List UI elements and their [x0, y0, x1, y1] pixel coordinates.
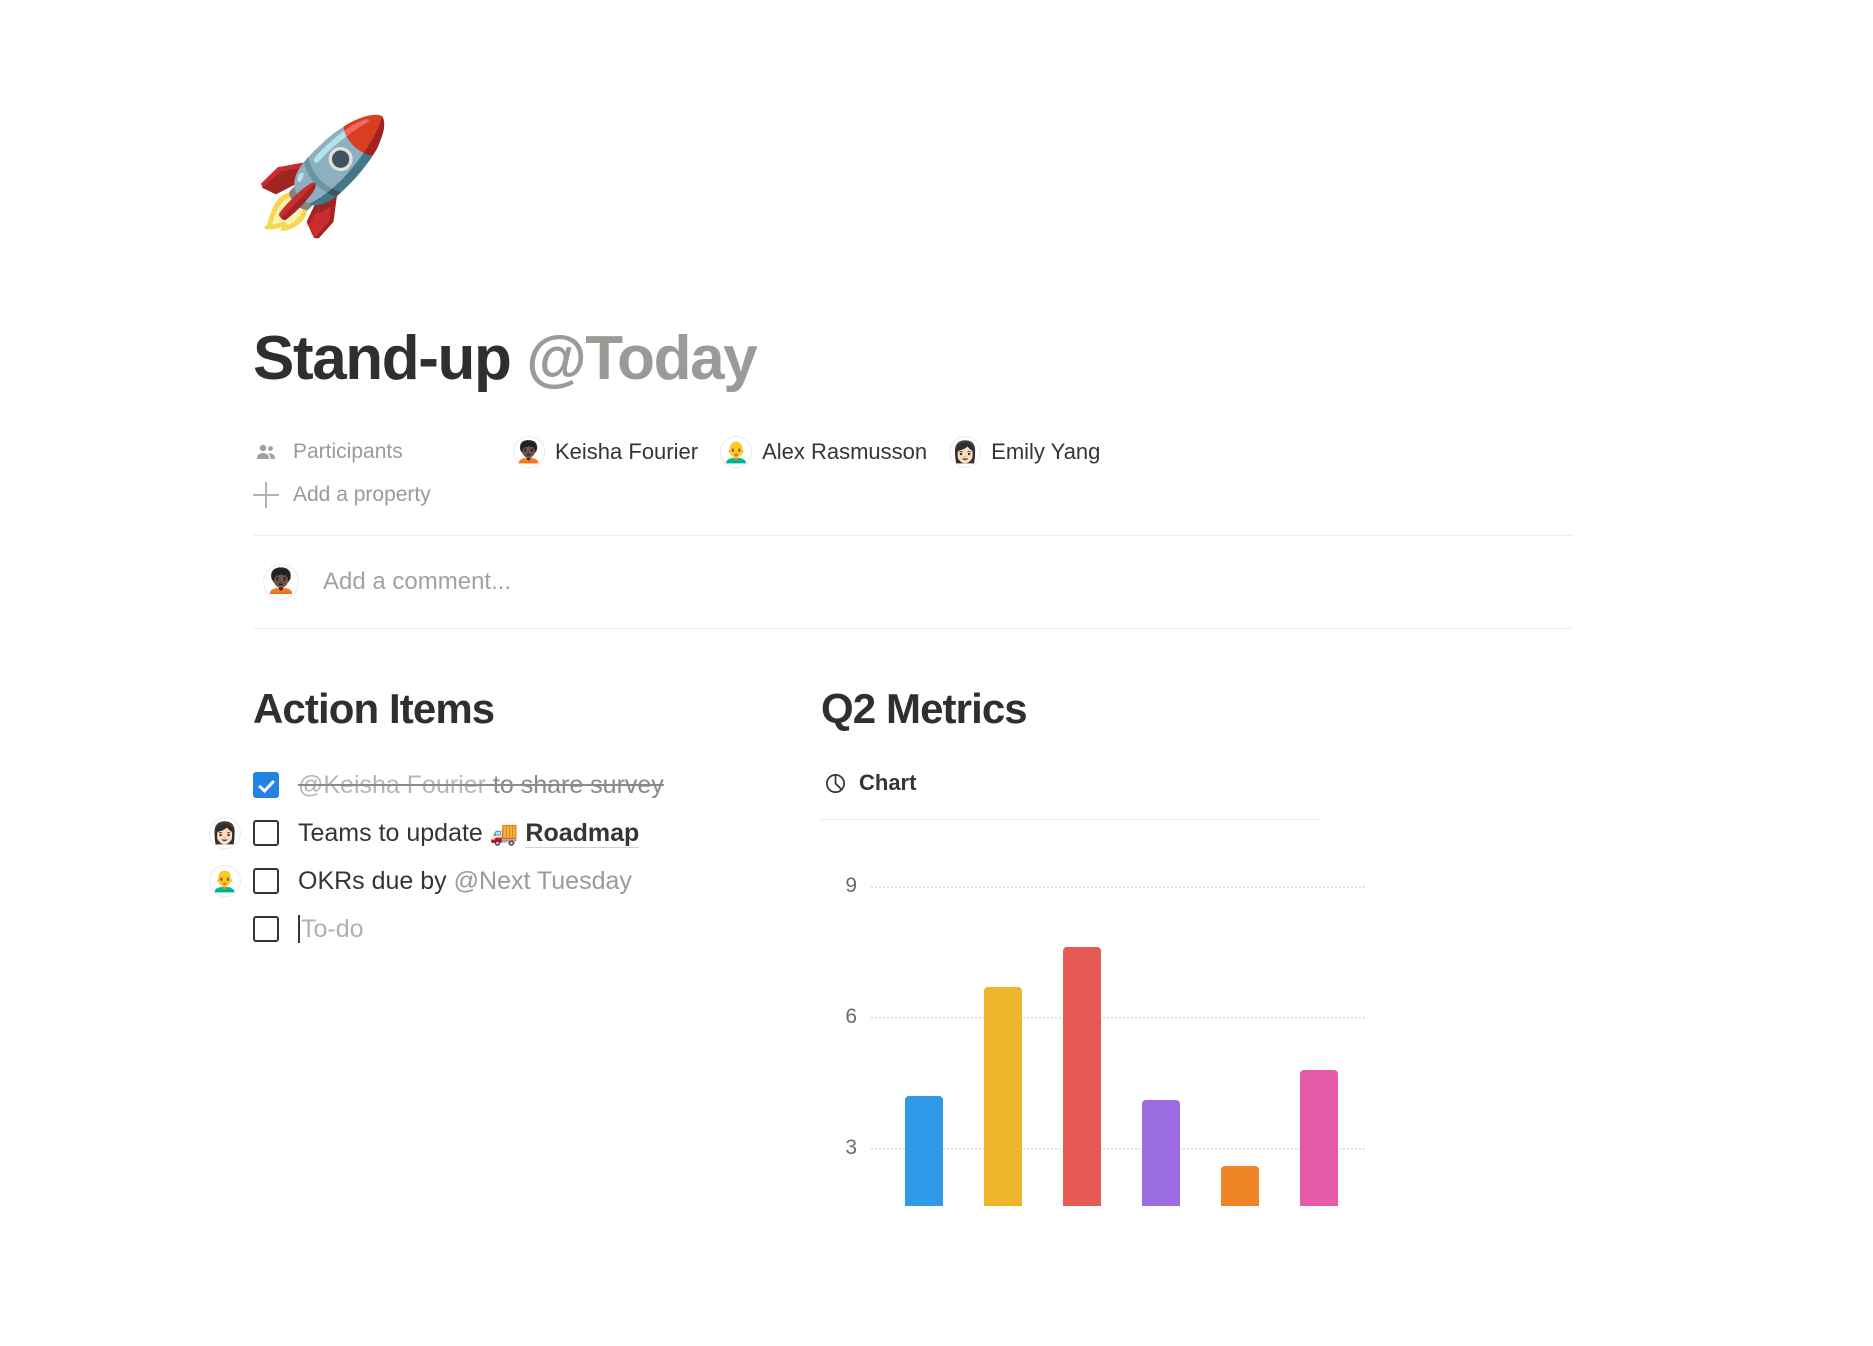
date-mention[interactable]: @Next Tuesday: [454, 867, 632, 895]
todo-text[interactable]: @Keisha Fourier to share survey: [298, 771, 664, 800]
todo-item-new[interactable]: To-do: [253, 905, 821, 953]
bar-chart: 9 6 3: [821, 862, 1573, 1206]
avatar: 👩🏻: [949, 436, 981, 468]
todo-item[interactable]: @Keisha Fourier to share survey: [253, 761, 821, 809]
todo-text[interactable]: OKRs due by @Next Tuesday: [298, 867, 632, 896]
rocket-icon[interactable]: 🚀: [253, 120, 1573, 250]
todo-item[interactable]: 👨‍🦲 OKRs due by @Next Tuesday: [253, 857, 821, 905]
truck-icon: 🚚: [490, 820, 519, 846]
text-cursor: [298, 915, 300, 943]
y-axis-tick: 3: [821, 1136, 857, 1160]
todo-text-rest: to share survey: [486, 771, 664, 799]
column-metrics: Q2 Metrics Chart: [821, 685, 1573, 1206]
column-action-items: Action Items @Keisha Fourier to share su…: [253, 685, 821, 1206]
tab-chart[interactable]: Chart: [824, 770, 916, 796]
add-property-label: Add a property: [293, 483, 431, 507]
pie-chart-icon: [824, 772, 847, 795]
participant-chip[interactable]: 👨‍🦲 Alex Rasmusson: [720, 436, 927, 468]
plus-icon: [253, 482, 279, 508]
avatar: 🧑🏿‍🦱: [263, 564, 299, 600]
page-link-roadmap[interactable]: Roadmap: [525, 819, 639, 848]
participant-chip[interactable]: 🧑🏿‍🦱 Keisha Fourier: [513, 436, 698, 468]
bar: [905, 1096, 943, 1206]
chart-tab-divider: [821, 819, 1321, 820]
todo-text[interactable]: To-do: [298, 915, 364, 944]
checkbox[interactable]: [253, 916, 279, 942]
todo-text-rest: Teams to update: [298, 819, 490, 847]
property-label-text: Participants: [293, 440, 403, 464]
bar: [1300, 1070, 1338, 1207]
bar: [1221, 1166, 1259, 1207]
y-axis-tick: 6: [821, 1005, 857, 1029]
people-icon: [253, 439, 279, 465]
person-mention[interactable]: @Keisha Fourier: [298, 771, 486, 799]
date-mention[interactable]: @Today: [526, 324, 756, 393]
page-title[interactable]: Stand-up @Today: [253, 325, 1573, 393]
checkbox[interactable]: [253, 868, 279, 894]
checkbox-checked[interactable]: [253, 772, 279, 798]
tab-chart-label: Chart: [859, 770, 916, 796]
property-label-participants[interactable]: Participants: [253, 439, 513, 465]
comment-input-row[interactable]: 🧑🏿‍🦱 Add a comment...: [253, 536, 1573, 628]
participants-value[interactable]: 🧑🏿‍🦱 Keisha Fourier 👨‍🦲 Alex Rasmusson 👩…: [513, 436, 1100, 468]
avatar: 👨‍🦲: [209, 865, 241, 897]
add-property-button[interactable]: Add a property: [253, 473, 1573, 517]
todo-text-rest: OKRs due by: [298, 867, 454, 895]
action-items-heading: Action Items: [253, 685, 821, 733]
body-columns: Action Items @Keisha Fourier to share su…: [253, 685, 1573, 1206]
todo-text[interactable]: Teams to update 🚚 Roadmap: [298, 819, 639, 848]
page-title-text: Stand-up: [253, 324, 526, 393]
metrics-heading: Q2 Metrics: [821, 685, 1573, 733]
todo-item[interactable]: 👩🏻 Teams to update 🚚 Roadmap: [253, 809, 821, 857]
bar: [1142, 1100, 1180, 1206]
notion-page: 🚀 Stand-up @Today Participants: [0, 0, 1873, 1346]
property-row-participants[interactable]: Participants 🧑🏿‍🦱 Keisha Fourier 👨‍🦲 Ale…: [253, 431, 1573, 473]
page-properties: Participants 🧑🏿‍🦱 Keisha Fourier 👨‍🦲 Ale…: [253, 431, 1573, 517]
comment-input[interactable]: Add a comment...: [323, 568, 511, 596]
participant-name: Emily Yang: [991, 439, 1100, 465]
y-axis-tick: 9: [821, 874, 857, 898]
page-content: 🚀 Stand-up @Today Participants: [253, 0, 1573, 1206]
todo-placeholder: To-do: [301, 915, 364, 943]
chart-tabs: Chart: [821, 761, 1573, 805]
bar: [1063, 947, 1101, 1206]
avatar: 🧑🏿‍🦱: [513, 436, 545, 468]
participant-name: Alex Rasmusson: [762, 439, 927, 465]
checkbox[interactable]: [253, 820, 279, 846]
participant-chip[interactable]: 👩🏻 Emily Yang: [949, 436, 1100, 468]
divider: [253, 628, 1573, 629]
avatar: 👩🏻: [209, 817, 241, 849]
participant-name: Keisha Fourier: [555, 439, 698, 465]
avatar: 👨‍🦲: [720, 436, 752, 468]
bar: [984, 987, 1022, 1207]
bar-series: [883, 862, 1373, 1206]
